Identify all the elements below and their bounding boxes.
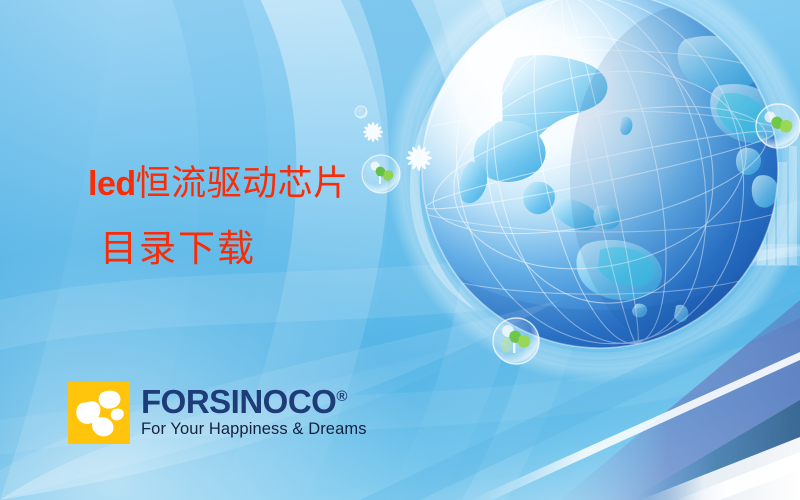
hero-banner: led恒流驱动芯片 目录下载 FORSINOCO® For Your Happ	[0, 0, 800, 500]
headline: led恒流驱动芯片 目录下载	[88, 166, 508, 268]
brand-name-text: FORSINOCO	[141, 383, 336, 420]
pinwheel-petals-icon	[68, 382, 130, 444]
brand-tagline: For Your Happiness & Dreams	[141, 420, 367, 439]
brand-name: FORSINOCO®	[141, 385, 367, 418]
forsinoco-pinwheel-mark	[68, 382, 130, 444]
registered-trademark-icon: ®	[336, 388, 347, 405]
headline-line-1: led恒流驱动芯片	[88, 166, 508, 201]
company-logo: FORSINOCO® For Your Happiness & Dreams	[68, 382, 367, 444]
headline-latin: led	[88, 165, 136, 203]
headline-line-2: 目录下载	[88, 231, 508, 268]
headline-cjk: 恒流驱动芯片	[136, 164, 349, 203]
logo-wordmark: FORSINOCO® For Your Happiness & Dreams	[141, 382, 367, 439]
